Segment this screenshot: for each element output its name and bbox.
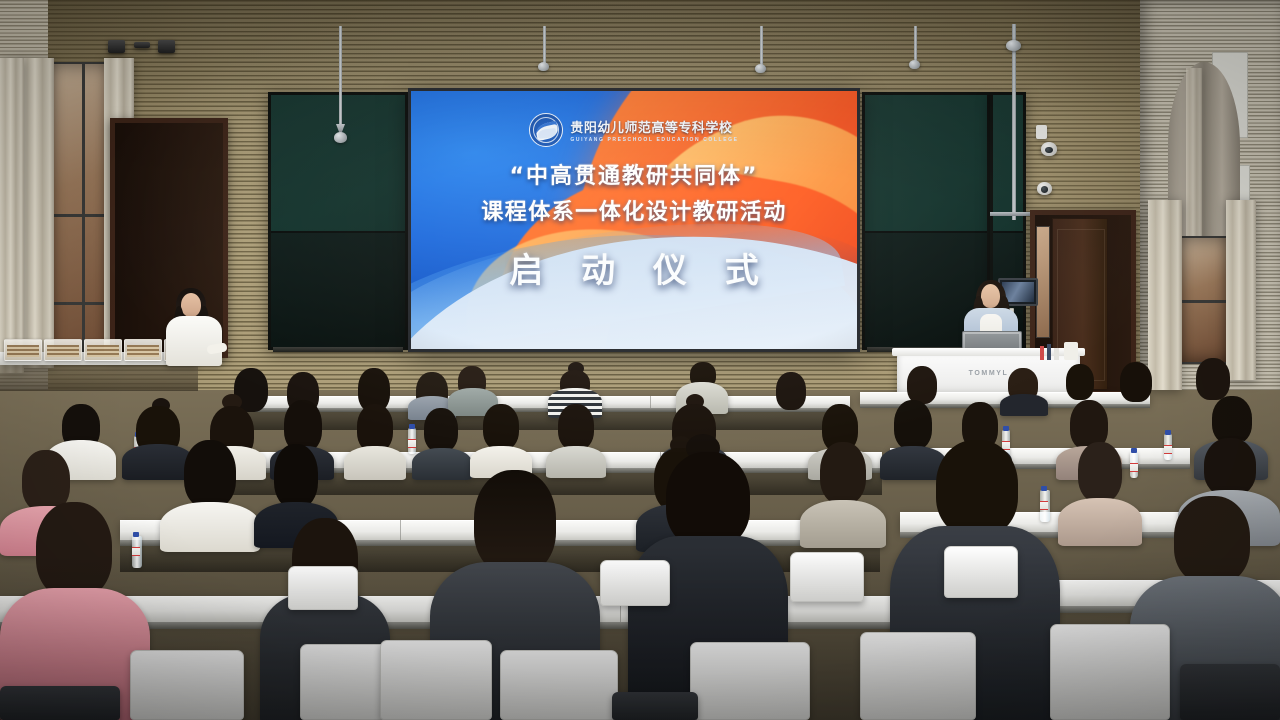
chair[interactable] (500, 650, 618, 720)
table-seam (650, 396, 651, 408)
right-curtain-b[interactable] (1226, 200, 1256, 380)
chair[interactable] (944, 546, 1018, 598)
attendee (470, 404, 532, 470)
hair (1078, 442, 1122, 502)
document-bundle[interactable] (124, 339, 162, 361)
hair (36, 502, 112, 598)
led-display[interactable]: 贵阳幼儿师范高等专科学校 GUIYANG PRESCHOOL EDUCATION… (408, 88, 860, 352)
hair (1196, 358, 1230, 400)
right-window (1176, 236, 1232, 364)
ceiling-microphone (1006, 40, 1021, 51)
corridor-window (1036, 226, 1050, 338)
attendee (160, 440, 260, 536)
hair (666, 452, 750, 548)
mic-drop-pipe (914, 26, 917, 64)
head (981, 284, 1000, 308)
document-bundle[interactable] (44, 339, 82, 361)
chair-dark[interactable] (612, 692, 698, 720)
hair (357, 404, 393, 452)
classroom-scene: 贵阳幼儿师范高等专科学校 GUIYANG PRESCHOOL EDUCATION… (0, 0, 1280, 720)
slide-heading-line2: 课程体系一体化设计教研活动 (481, 194, 787, 226)
ceiling-microphone (334, 132, 347, 143)
hair (820, 442, 866, 504)
hair (1120, 362, 1152, 402)
camera-mount-plate (1036, 125, 1047, 139)
slide-content: 贵阳幼儿师范高等专科学校 GUIYANG PRESCHOOL EDUCATION… (411, 91, 857, 349)
mic-drop-pipe (339, 26, 342, 128)
assistant-person (163, 288, 225, 368)
slide-heading-line1: “中高贯通教研共同体” (510, 158, 759, 190)
security-camera (1037, 182, 1052, 195)
chair[interactable] (380, 640, 492, 720)
table-seam (400, 520, 401, 540)
college-logo: 贵阳幼儿师范高等专科学校 GUIYANG PRESCHOOL EDUCATION… (529, 113, 738, 147)
ceiling-microphone (909, 60, 920, 69)
hair (184, 440, 236, 508)
chair[interactable] (288, 566, 358, 610)
hair (424, 408, 458, 452)
chair[interactable] (690, 642, 810, 720)
hair (474, 470, 556, 574)
left-curtain-c[interactable] (0, 58, 24, 373)
hair (776, 372, 806, 410)
hair (558, 404, 594, 450)
torso (160, 502, 260, 552)
hand-with-paper (206, 342, 227, 354)
college-crest-icon (529, 113, 563, 147)
attendee (412, 408, 472, 470)
mic-drop-pipe (543, 26, 546, 66)
torso (800, 500, 886, 548)
attendee (344, 404, 406, 470)
hair (1212, 396, 1252, 444)
college-name-en: GUIYANG PRESCHOOL EDUCATION COLLEGE (570, 137, 738, 143)
mic-drop-pipe (760, 26, 763, 68)
hair (1066, 364, 1094, 400)
chalk-tray (273, 347, 403, 352)
ceiling-microphone (755, 64, 766, 73)
torso (166, 316, 222, 366)
ceiling-microphone (538, 62, 549, 71)
wall-conduit (1012, 24, 1016, 220)
head (181, 293, 201, 317)
hair (483, 404, 519, 450)
left-curtain[interactable] (20, 58, 54, 368)
attendee (546, 404, 606, 470)
desk-items (1040, 340, 1086, 360)
wall-speaker (108, 40, 125, 53)
college-name-cn: 贵阳幼儿师范高等专科学校 (570, 117, 738, 136)
chair[interactable] (130, 650, 244, 720)
hair (907, 366, 937, 404)
slide-main-title: 启 动 仪 式 (496, 243, 772, 292)
hair (274, 444, 318, 508)
hair (936, 440, 1018, 536)
document-bundle[interactable] (4, 339, 42, 361)
document-bundle[interactable] (84, 339, 122, 361)
chair[interactable] (860, 632, 976, 720)
chalkboard-left (268, 92, 408, 350)
chair-dark[interactable] (1180, 664, 1280, 720)
hair (1204, 438, 1256, 496)
college-logo-text: 贵阳幼儿师范高等专科学校 GUIYANG PRESCHOOL EDUCATION… (570, 117, 738, 143)
window-mullion (82, 64, 85, 360)
left-table-base (0, 365, 198, 391)
wall-speaker (158, 40, 175, 53)
led-screen-surface: 贵阳幼儿师范高等专科学校 GUIYANG PRESCHOOL EDUCATION… (411, 91, 857, 349)
attendee (800, 442, 886, 536)
torso (344, 446, 406, 480)
chair[interactable] (790, 552, 864, 602)
chalkboard-lower-panel (271, 231, 405, 347)
window-mullion (1178, 300, 1230, 303)
security-camera (1041, 142, 1057, 156)
chair[interactable] (600, 560, 670, 606)
hair (1174, 496, 1250, 584)
water-bottle[interactable] (1164, 434, 1172, 460)
chair-dark[interactable] (0, 686, 120, 720)
chair[interactable] (1050, 624, 1170, 720)
wall-sensor (134, 42, 150, 48)
